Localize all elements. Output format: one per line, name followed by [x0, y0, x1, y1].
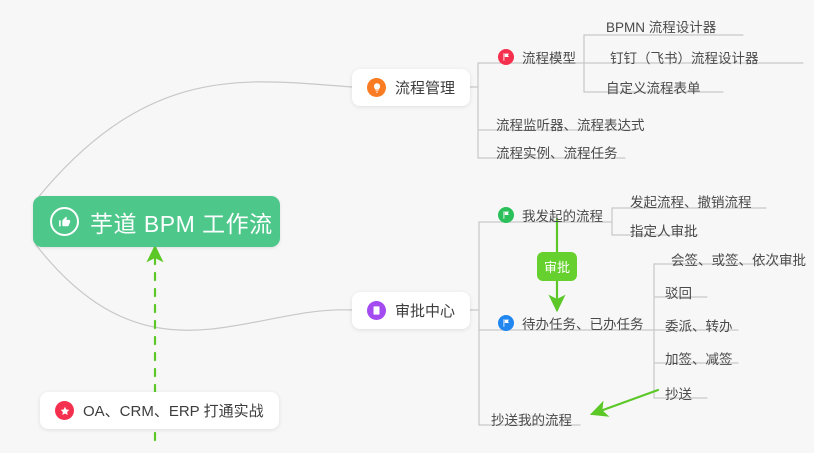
- node-label: 指定人审批: [630, 225, 698, 239]
- node-cc-to-me-processes[interactable]: 抄送我的流程: [485, 404, 579, 429]
- flag-blue-icon: [498, 315, 514, 331]
- flag-green-icon: [498, 207, 514, 223]
- approval-badge-label: 审批: [544, 257, 570, 276]
- node-process-instance-task[interactable]: 流程实例、流程任务: [490, 137, 625, 162]
- node-todo-done-tasks[interactable]: 待办任务、已办任务: [492, 308, 651, 333]
- branch-node-approval-center[interactable]: 审批中心: [352, 292, 470, 329]
- node-process-listener-expression[interactable]: 流程监听器、流程表达式: [490, 109, 652, 134]
- approval-badge: 审批: [537, 252, 577, 281]
- flag-red-icon: [498, 49, 514, 65]
- node-cc[interactable]: 抄送: [659, 378, 699, 403]
- branch-label: 流程管理: [395, 77, 455, 98]
- root-node[interactable]: 芋道 BPM 工作流: [33, 196, 280, 247]
- node-label: 流程模型: [522, 52, 576, 66]
- lightbulb-icon: [367, 78, 386, 97]
- node-delegate-transfer[interactable]: 委派、转办: [659, 310, 740, 335]
- node-label: 加签、减签: [665, 353, 733, 367]
- branch-node-process-management[interactable]: 流程管理: [352, 69, 470, 106]
- branch-label: 审批中心: [395, 300, 455, 321]
- document-icon: [367, 301, 386, 320]
- node-label: 钉钉（飞书）流程设计器: [610, 52, 759, 66]
- thumbs-up-icon: [50, 207, 79, 236]
- node-label: 流程实例、流程任务: [496, 147, 618, 161]
- node-start-cancel-process[interactable]: 发起流程、撤销流程: [624, 186, 759, 211]
- node-label: 我发起的流程: [522, 210, 603, 224]
- node-label: 流程监听器、流程表达式: [496, 119, 645, 133]
- node-label: 抄送: [665, 388, 692, 402]
- node-label: 发起流程、撤销流程: [630, 196, 752, 210]
- node-label: 自定义流程表单: [606, 82, 701, 96]
- node-process-model[interactable]: 流程模型: [492, 42, 583, 67]
- node-bpmn-designer[interactable]: BPMN 流程设计器: [600, 11, 723, 36]
- node-assignee-approval[interactable]: 指定人审批: [624, 215, 705, 240]
- star-icon: [55, 401, 74, 420]
- node-label: 委派、转办: [665, 320, 733, 334]
- node-add-remove-sign[interactable]: 加签、减签: [659, 343, 740, 368]
- node-custom-process-form[interactable]: 自定义流程表单: [600, 72, 708, 97]
- node-label: BPMN 流程设计器: [606, 21, 716, 35]
- node-label: 会签、或签、依次审批: [671, 254, 806, 268]
- node-label: 抄送我的流程: [491, 414, 572, 428]
- node-my-initiated-processes[interactable]: 我发起的流程: [492, 200, 610, 225]
- node-reject[interactable]: 驳回: [659, 277, 699, 302]
- footer-node-label: OA、CRM、ERP 打通实战: [83, 400, 264, 421]
- node-counter-or-sequential-sign[interactable]: 会签、或签、依次审批: [665, 244, 813, 269]
- footer-node-oa-crm-erp[interactable]: OA、CRM、ERP 打通实战: [40, 392, 279, 429]
- node-dingtalk-feishu-designer[interactable]: 钉钉（飞书）流程设计器: [604, 42, 766, 67]
- node-label: 待办任务、已办任务: [522, 318, 644, 332]
- node-label: 驳回: [665, 287, 692, 301]
- mindmap-canvas: 芋道 BPM 工作流 流程管理 流程模型 BPMN 流程设计器 钉钉（飞书）流程…: [0, 0, 814, 453]
- root-label: 芋道 BPM 工作流: [90, 205, 273, 239]
- arrow-cc-link: [592, 390, 658, 414]
